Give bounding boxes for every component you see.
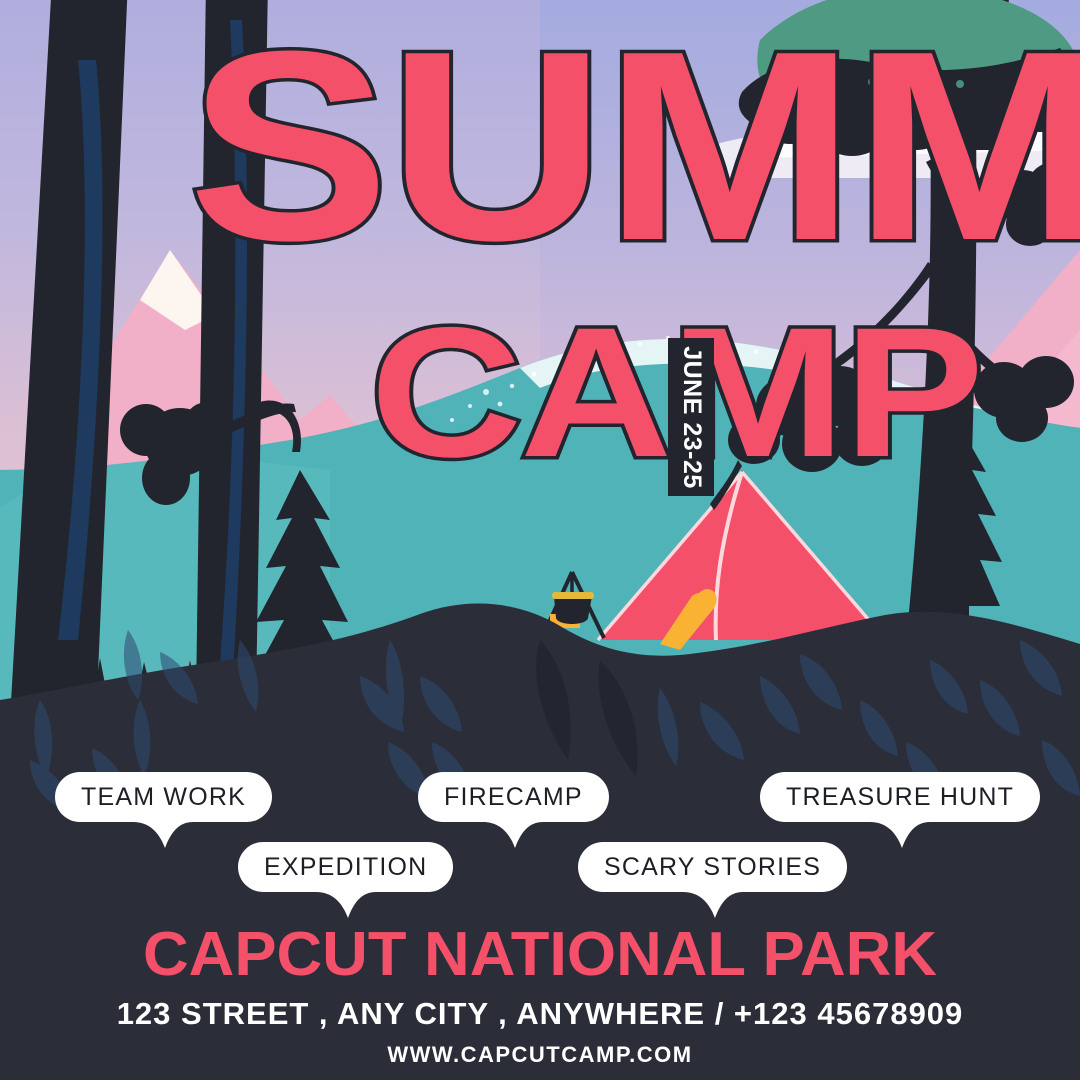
- summer-camp-poster: SUMMER CAMP JUNE 23-25 TEAM WORK FIRECAM…: [0, 0, 1080, 1080]
- camp-scene-illustration: [0, 0, 1080, 1080]
- pill-tail-icon: [133, 820, 193, 848]
- address-line: 123 STREET , ANY CITY , ANYWHERE / +123 …: [0, 996, 1080, 1032]
- pill-tail-icon: [316, 890, 376, 918]
- pill-tail-icon: [483, 820, 543, 848]
- activity-pill-expedition[interactable]: EXPEDITION: [238, 842, 453, 892]
- pill-tail-icon: [870, 820, 930, 848]
- activity-pill-treasure-hunt[interactable]: TREASURE HUNT: [760, 772, 1040, 822]
- website-line[interactable]: WWW.CAPCUTCAMP.COM: [0, 1042, 1080, 1068]
- tree-trunk-left-2: [196, 0, 268, 700]
- activity-label: FIRECAMP: [444, 783, 583, 812]
- park-name: CAPCUT NATIONAL PARK: [0, 924, 1080, 986]
- pill-tail-icon: [683, 890, 743, 918]
- activity-label: TREASURE HUNT: [786, 783, 1014, 812]
- activity-pill-scary-stories[interactable]: SCARY STORIES: [578, 842, 847, 892]
- footer: CAPCUT NATIONAL PARK 123 STREET , ANY CI…: [0, 924, 1080, 1068]
- activity-label: SCARY STORIES: [604, 853, 821, 882]
- activity-label: EXPEDITION: [264, 853, 427, 882]
- activity-pill-firecamp[interactable]: FIRECAMP: [418, 772, 609, 822]
- activity-pill-team-work[interactable]: TEAM WORK: [55, 772, 272, 822]
- activity-label: TEAM WORK: [81, 783, 246, 812]
